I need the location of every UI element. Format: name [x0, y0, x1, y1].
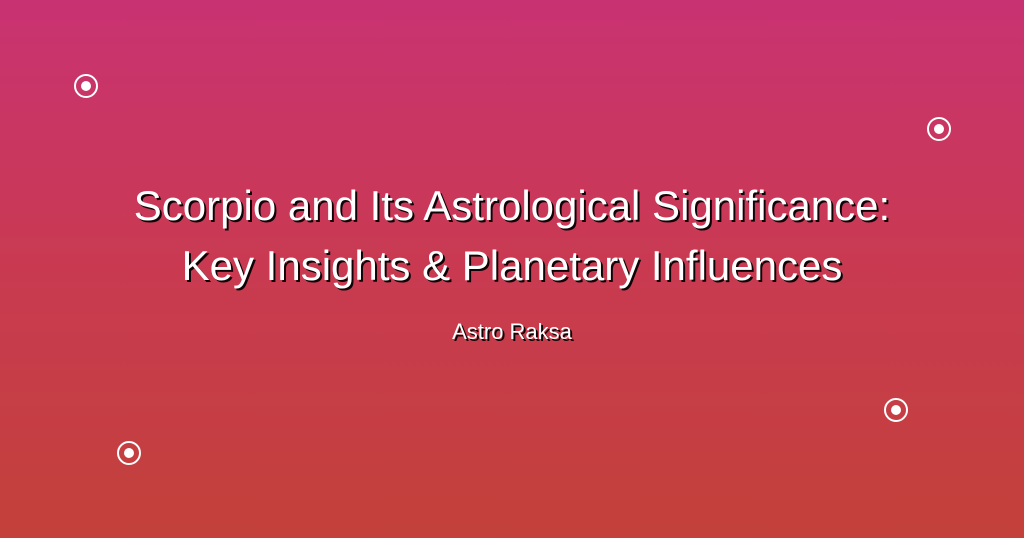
slide-subtitle: Astro Raksa: [40, 318, 984, 346]
slide-text-block: Scorpio and Its Astrological Significanc…: [0, 176, 1024, 346]
ring-dot-icon-top-left: [74, 74, 98, 98]
ring-dot-icon-bottom-right: [884, 398, 908, 422]
title-slide: Scorpio and Its Astrological Significanc…: [0, 0, 1024, 538]
ring-dot-center: [891, 405, 901, 415]
slide-title-line-1: Scorpio and Its Astrological Significanc…: [40, 176, 984, 236]
ring-dot-center: [934, 124, 944, 134]
ring-dot-center: [81, 81, 91, 91]
slide-title: Scorpio and Its Astrological Significanc…: [40, 176, 984, 296]
slide-title-line-2: Key Insights & Planetary Influences: [40, 236, 984, 296]
ring-dot-icon-top-right: [927, 117, 951, 141]
ring-dot-center: [124, 448, 134, 458]
ring-dot-icon-bottom-left: [117, 441, 141, 465]
